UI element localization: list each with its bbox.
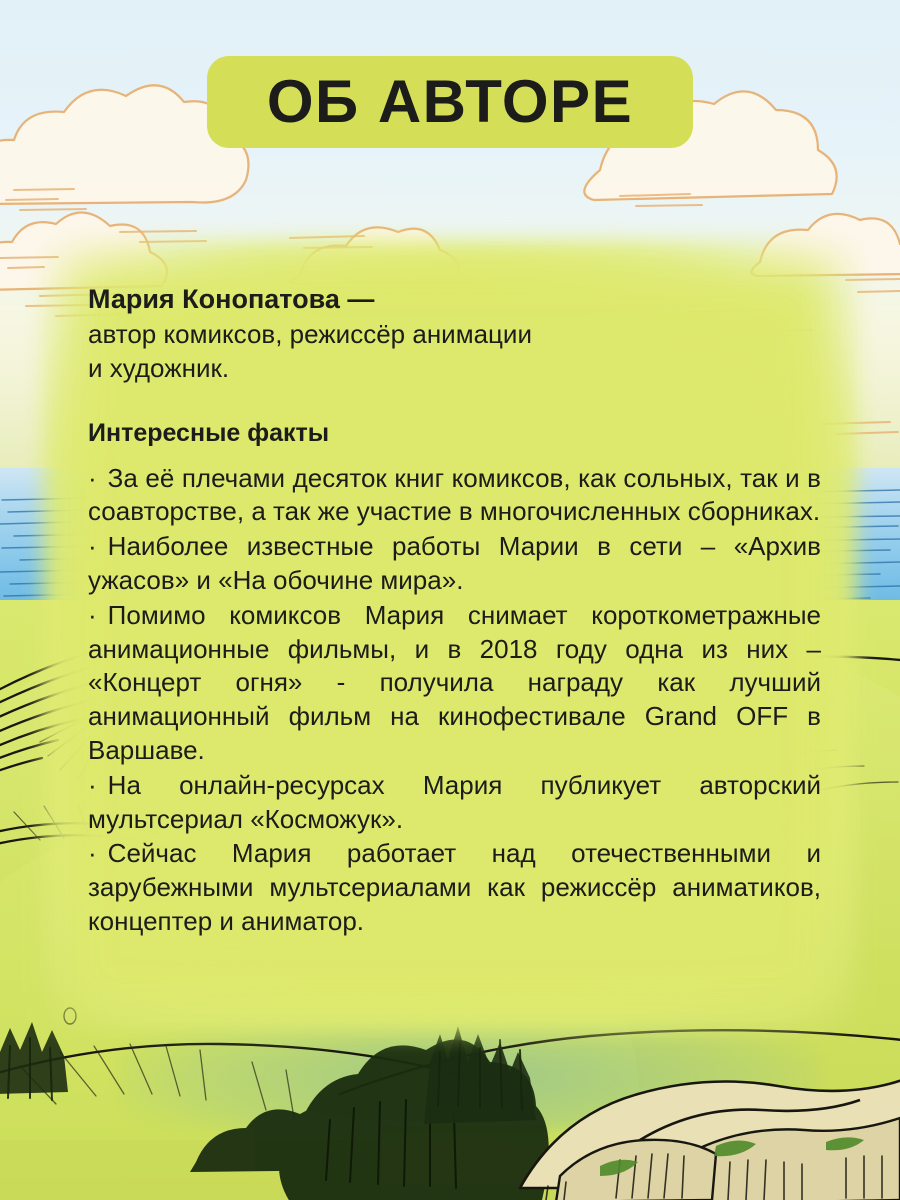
bullet-icon: · bbox=[88, 838, 97, 868]
page-title-banner: ОБ АВТОРЕ bbox=[207, 56, 693, 148]
list-item: ·Наиболее известные работы Марии в сети … bbox=[88, 530, 821, 598]
list-item-text: На онлайн-ресурсах Мария публикует автор… bbox=[88, 770, 821, 834]
author-info-panel: Мария Конопатова — автор комиксов, режис… bbox=[88, 282, 821, 940]
author-role-line-1: автор комиксов, режиссёр анимации bbox=[88, 318, 821, 352]
facts-list: ·За её плечами десяток книг комиксов, ка… bbox=[88, 462, 821, 939]
bullet-icon: · bbox=[88, 463, 97, 493]
about-author-page: ОБ АВТОРЕ Мария Конопатова — автор комик… bbox=[0, 0, 900, 1200]
list-item-text: Помимо комиксов Мария снимает короткомет… bbox=[88, 600, 821, 765]
list-item-text: За её плечами десяток книг комиксов, как… bbox=[88, 463, 821, 527]
list-item: ·Помимо комиксов Мария снимает короткоме… bbox=[88, 599, 821, 768]
list-item: ·На онлайн-ресурсах Мария публикует авто… bbox=[88, 769, 821, 837]
author-role-line-2: и художник. bbox=[88, 352, 821, 386]
list-item-text: Сейчас Мария работает над отечественными… bbox=[88, 838, 821, 936]
list-item-text: Наиболее известные работы Марии в сети –… bbox=[88, 531, 821, 595]
page-title: ОБ АВТОРЕ bbox=[267, 72, 633, 132]
author-name: Мария Конопатова — bbox=[88, 282, 821, 316]
list-item: ·За её плечами десяток книг комиксов, ка… bbox=[88, 462, 821, 530]
bullet-icon: · bbox=[88, 600, 97, 630]
list-item: ·Сейчас Мария работает над отечественным… bbox=[88, 837, 821, 938]
bullet-icon: · bbox=[88, 770, 97, 800]
interesting-facts-heading: Интересные факты bbox=[88, 418, 821, 448]
bullet-icon: · bbox=[88, 531, 97, 561]
